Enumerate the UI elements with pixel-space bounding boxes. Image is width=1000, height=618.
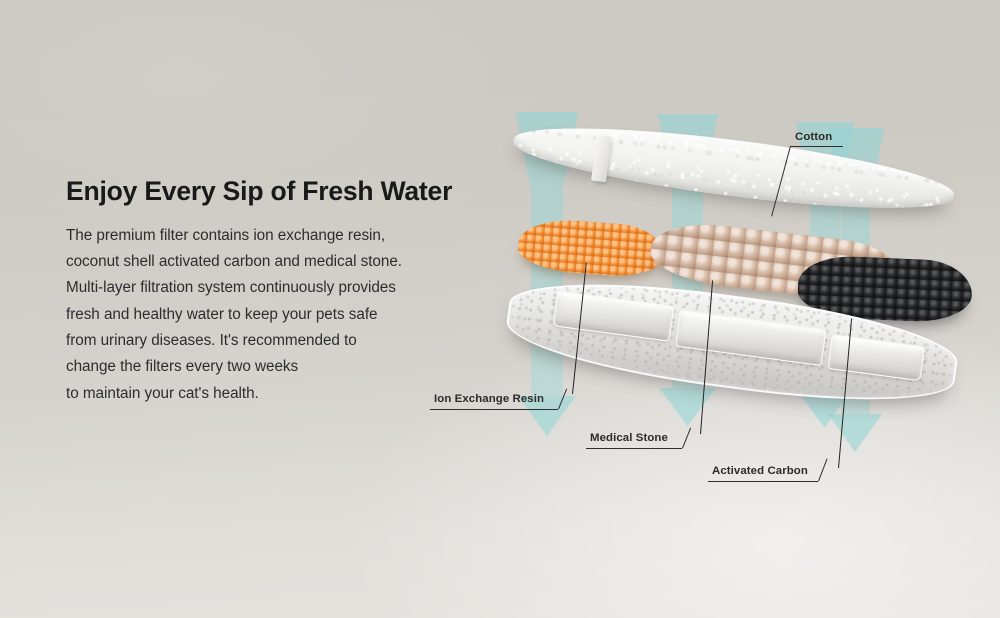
cotton-pad (510, 113, 958, 224)
callout-label-cotton: Cotton (795, 131, 832, 143)
callout-label-activated-carbon: Activated Carbon (712, 465, 808, 477)
marketing-banner: Enjoy Every Sip of Fresh Water The premi… (0, 0, 1000, 618)
callout-underline-cotton (791, 146, 843, 147)
cotton-fiber-texture (510, 113, 958, 224)
callout-underline-activated-carbon (708, 481, 818, 482)
callout-label-medical-stone: Medical Stone (590, 432, 668, 444)
callout-underline-medical-stone (586, 448, 682, 449)
callout-label-ion-exchange-resin: Ion Exchange Resin (434, 393, 544, 405)
callout-underline-ion-exchange-resin (430, 409, 558, 410)
exploded-filter-diagram (400, 100, 1000, 520)
